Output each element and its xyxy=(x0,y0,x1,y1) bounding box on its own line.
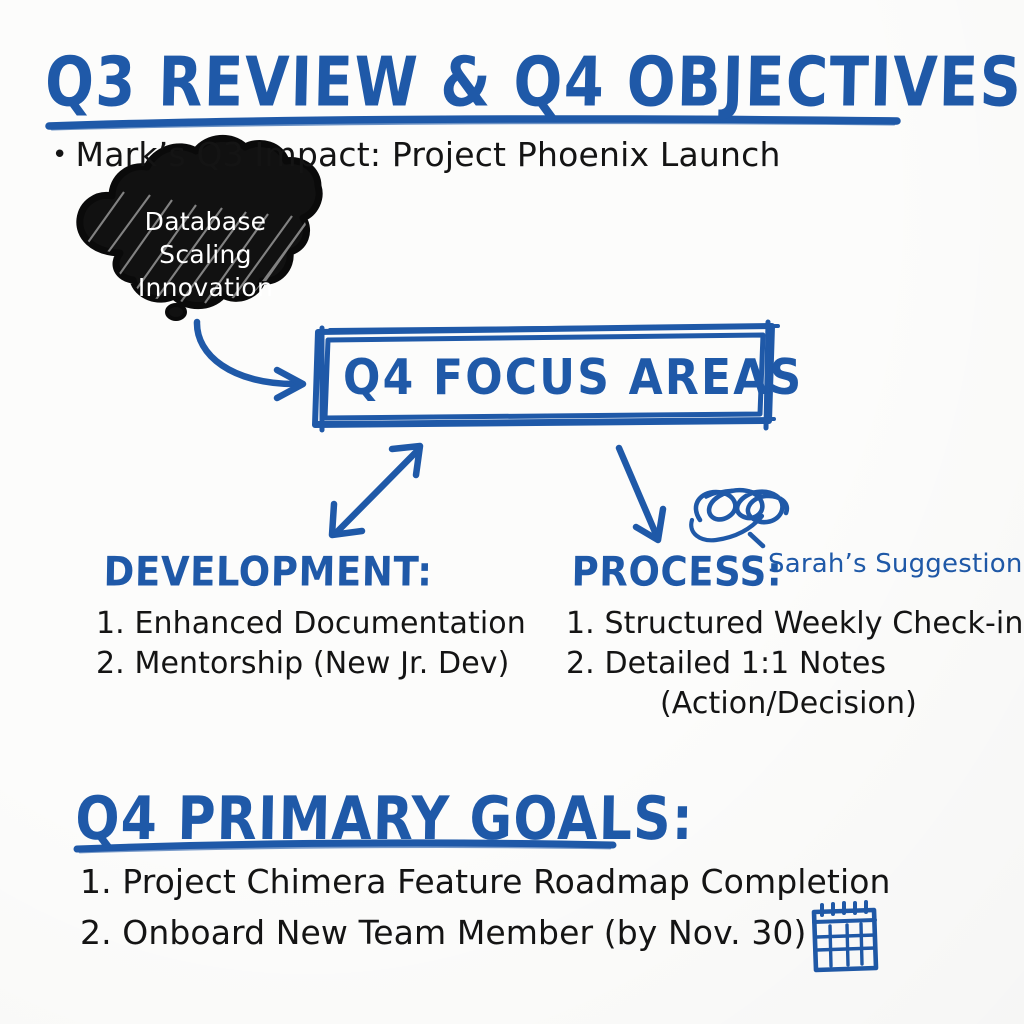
goals-heading: Q4 PRIMARY GOALS: xyxy=(75,785,695,854)
column-heading-development: DEVELOPMENT: xyxy=(103,548,433,595)
arrow-focus-box-to-development xyxy=(332,446,420,535)
process-item-2: 2. Detailed 1:1 Notes xyxy=(566,646,886,681)
cloud-label-line-3: Innovation xyxy=(118,271,293,304)
focus-box-label: Q4 FOCUS AREAS xyxy=(343,349,753,406)
development-item-1: 1. Enhanced Documentation xyxy=(96,606,526,641)
impact-bullet-text: Mark’s Q3 Impact: Project Phoenix Launch xyxy=(76,135,781,174)
scribble-mark xyxy=(691,490,787,546)
goal-item-2: 2. Onboard New Team Member (by Nov. 30) xyxy=(80,913,806,952)
impact-bullet: •Mark’s Q3 Impact: Project Phoenix Launc… xyxy=(52,135,781,174)
whiteboard-canvas: Q3 REVIEW & Q4 OBJECTIVES •Mark’s Q3 Imp… xyxy=(0,0,1024,1024)
cloud-label: Database Scaling Innovation xyxy=(118,205,293,304)
goal-item-1: 1. Project Chimera Feature Roadmap Compl… xyxy=(80,862,891,901)
cloud-label-line-1: Database xyxy=(118,205,293,238)
column-heading-process: PROCESS: xyxy=(571,548,782,595)
cloud-label-line-2: Scaling xyxy=(118,238,293,271)
calendar-icon xyxy=(814,902,876,970)
page-title: Q3 REVIEW & Q4 OBJECTIVES xyxy=(44,42,1023,122)
development-item-2: 2. Mentorship (New Jr. Dev) xyxy=(96,646,509,681)
bullet-dot-icon: • xyxy=(52,140,68,170)
sarah-suggestion-annotation: Sarah’s Suggestion xyxy=(768,549,1023,579)
arrow-cloud-to-focus-box xyxy=(197,322,303,398)
process-item-1: 1. Structured Weekly Check-ins xyxy=(566,606,1024,641)
arrow-focus-box-to-process xyxy=(619,448,663,540)
process-item-2-detail: (Action/Decision) xyxy=(660,686,917,721)
